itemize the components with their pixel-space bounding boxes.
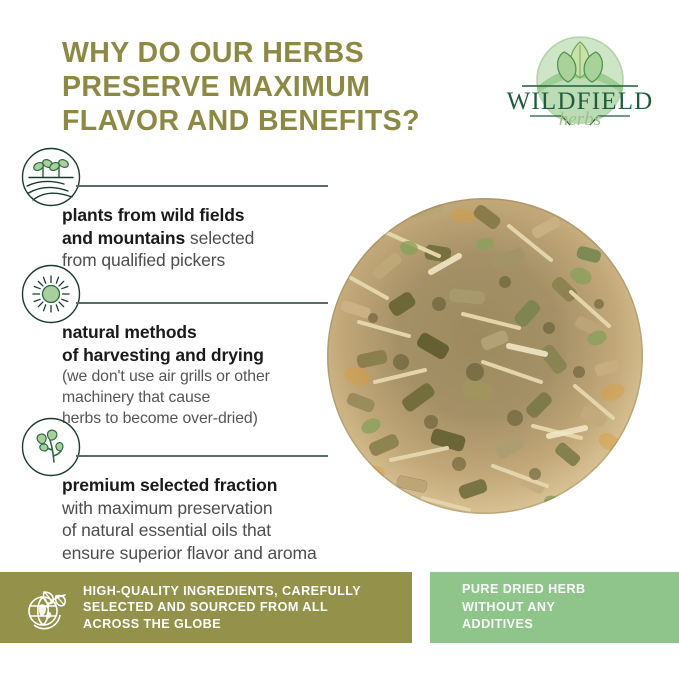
sun-icon xyxy=(20,263,82,325)
feature-1-bold-1: plants from wild fields xyxy=(62,205,244,225)
feature-1-text: plants from wild fields and mountains se… xyxy=(62,204,350,272)
headline-line-2: PRESERVE MAXIMUM xyxy=(62,70,482,104)
feature-3-bold-1: premium selected fraction xyxy=(62,475,277,495)
sprouts-in-field-icon xyxy=(20,146,82,208)
feature-1-connector-line xyxy=(76,185,328,187)
logo-script-text: herbs xyxy=(559,109,601,130)
infographic-canvas: WHY DO OUR HERBS PRESERVE MAXIMUM FLAVOR… xyxy=(0,0,679,679)
feature-1-reg-1: selected xyxy=(185,228,254,248)
banner-left-line-1: HIGH-QUALITY INGREDIENTS, CAREFULLY xyxy=(83,583,361,600)
banner-left-line-3: ACROSS THE GLOBE xyxy=(83,616,361,633)
herb-sprig-icon xyxy=(20,416,82,478)
feature-item-1: plants from wild fields and mountains se… xyxy=(20,146,350,272)
globe-with-leaves-icon xyxy=(22,584,69,631)
banner-pure-dried-herb: PURE DRIED HERB WITHOUT ANY ADDITIVES xyxy=(430,572,679,643)
banner-left-text: HIGH-QUALITY INGREDIENTS, CAREFULLY SELE… xyxy=(83,583,361,633)
feature-item-2: natural methods of harvesting and drying… xyxy=(20,263,350,429)
feature-2-sub-2: machinery that cause xyxy=(62,387,350,408)
banner-right-line-2: WITHOUT ANY xyxy=(462,599,586,617)
feature-3-reg-2: of natural essential oils that xyxy=(62,519,350,542)
feature-1-bold-2: and mountains xyxy=(62,228,185,248)
feature-2-connector-line xyxy=(76,302,328,304)
headline-line-1: WHY DO OUR HERBS xyxy=(62,36,482,70)
feature-2-bold-1: natural methods xyxy=(62,322,197,342)
banner-right-text: PURE DRIED HERB WITHOUT ANY ADDITIVES xyxy=(462,581,586,634)
feature-1-head xyxy=(20,146,350,208)
feature-2-head xyxy=(20,263,350,325)
banner-right-line-3: ADDITIVES xyxy=(462,616,586,634)
product-photo xyxy=(313,186,658,531)
banner-right-line-1: PURE DRIED HERB xyxy=(462,581,586,599)
feature-3-text: premium selected fraction with maximum p… xyxy=(62,474,350,564)
feature-2-bold-2: of harvesting and drying xyxy=(62,345,264,365)
brand-logo: WILDFIELD herbs xyxy=(500,32,660,132)
feature-item-3: premium selected fraction with maximum p… xyxy=(20,416,350,564)
feature-3-head xyxy=(20,416,350,478)
banner-left-line-2: SELECTED AND SOURCED FROM ALL xyxy=(83,599,361,616)
page-title: WHY DO OUR HERBS PRESERVE MAXIMUM FLAVOR… xyxy=(62,36,482,138)
feature-2-text: natural methods of harvesting and drying… xyxy=(62,321,350,429)
feature-3-reg-3: ensure superior flavor and aroma xyxy=(62,542,350,565)
feature-2-sub-1: (we don't use air grills or other xyxy=(62,366,350,387)
headline-line-3: FLAVOR AND BENEFITS? xyxy=(62,104,482,138)
feature-3-reg-1: with maximum preservation xyxy=(62,497,350,520)
banner-global-sourcing: HIGH-QUALITY INGREDIENTS, CAREFULLY SELE… xyxy=(0,572,412,643)
feature-3-connector-line xyxy=(76,455,328,457)
